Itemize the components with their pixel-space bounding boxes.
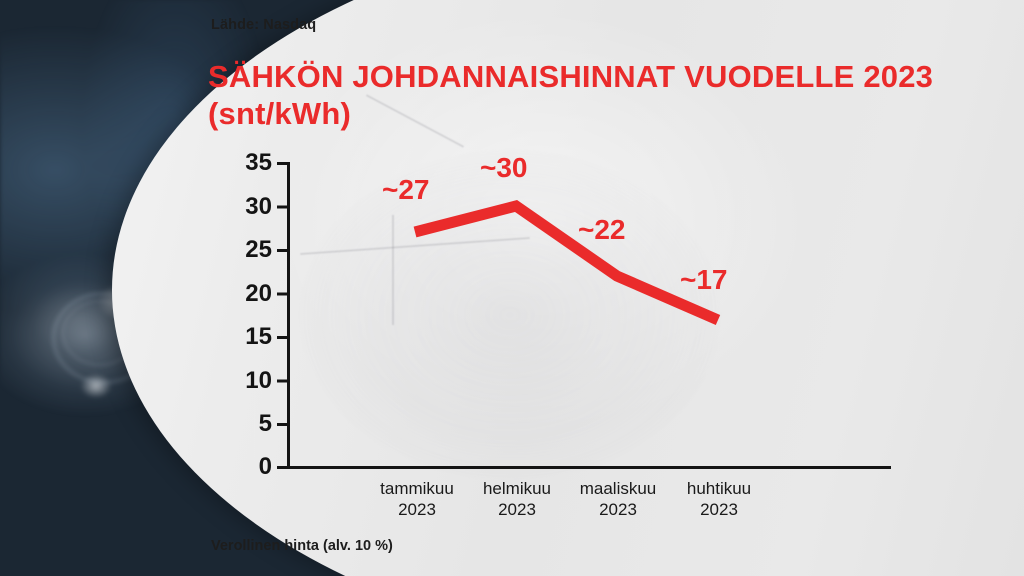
y-tick-label: 30	[226, 193, 272, 221]
infographic-slide: Lähde: Nasdaq SÄHKÖN JOHDANNAISHINNAT VU…	[0, 0, 1024, 576]
x-tick-year: 2023	[654, 500, 784, 521]
x-tick-label-huhtikuu: huhtikuu 2023	[654, 479, 784, 520]
data-label-tammikuu: ~27	[382, 174, 430, 206]
y-tick-label: 35	[226, 149, 272, 177]
data-label-huhtikuu: ~17	[680, 264, 728, 296]
y-tick-label: 25	[226, 236, 272, 264]
y-tick-label: 10	[226, 367, 272, 395]
data-label-helmikuu: ~30	[480, 152, 528, 184]
y-tick-label: 0	[226, 453, 272, 481]
y-tick-label: 20	[226, 280, 272, 308]
y-tick-label: 15	[226, 323, 272, 351]
data-series-line	[415, 206, 718, 320]
line-chart: 35 30 25 20 15 10 5 0 tammikuu 2023 helm…	[0, 0, 1024, 576]
chart-axes	[277, 162, 891, 469]
x-tick-month: huhtikuu	[654, 479, 784, 500]
footer-note: Verollinen hinta (alv. 10 %)	[211, 538, 393, 554]
y-tick-label: 5	[226, 410, 272, 438]
data-label-maaliskuu: ~22	[578, 214, 626, 246]
